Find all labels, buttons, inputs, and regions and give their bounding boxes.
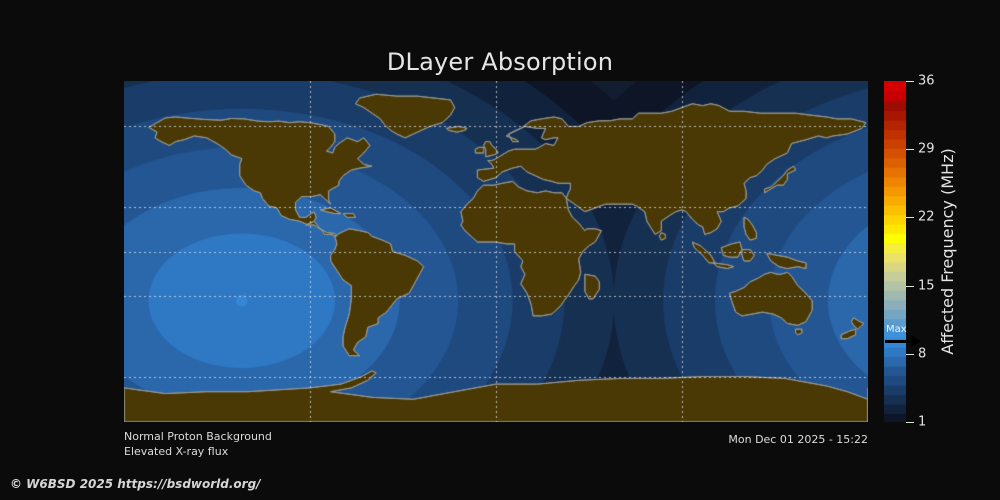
colorbar-tick xyxy=(906,286,914,287)
colorbar: Max 3629221581 xyxy=(884,81,906,422)
arrow-right-icon-head xyxy=(911,335,921,347)
colorbar-tick-label: 29 xyxy=(918,143,935,156)
colorbar-axis-label: Affected Frequency (MHz) xyxy=(938,81,1000,422)
colorbar-tick xyxy=(906,81,914,82)
colorbar-gradient xyxy=(884,81,906,422)
copyright-label: © W6BSD 2025 https://bsdworld.org/ xyxy=(10,477,261,491)
world-map-plot xyxy=(124,81,868,422)
colorbar-tick xyxy=(906,354,914,355)
colorbar-tick-label: 22 xyxy=(918,211,935,224)
colorbar-tick-label: 8 xyxy=(918,347,926,360)
timestamp-label: Mon Dec 01 2025 - 15:22 xyxy=(728,432,868,447)
status-line-1: Normal Proton Background xyxy=(124,429,272,444)
page-title: DLayer Absorption xyxy=(0,48,1000,76)
colorbar-tick-label: 1 xyxy=(918,416,926,429)
map-gridlines xyxy=(124,81,868,422)
colorbar-tick xyxy=(906,217,914,218)
colorbar-tick xyxy=(906,422,914,423)
status-text: Normal Proton Background Elevated X-ray … xyxy=(124,429,272,459)
colorbar-tick-label: 15 xyxy=(918,279,935,292)
dlayer-absorption-app: DLayer Absorption Max 3629221581 Affecte… xyxy=(0,0,1000,500)
colorbar-tick xyxy=(906,149,914,150)
status-line-2: Elevated X-ray flux xyxy=(124,444,272,459)
colorbar-tick-label: 36 xyxy=(918,75,935,88)
